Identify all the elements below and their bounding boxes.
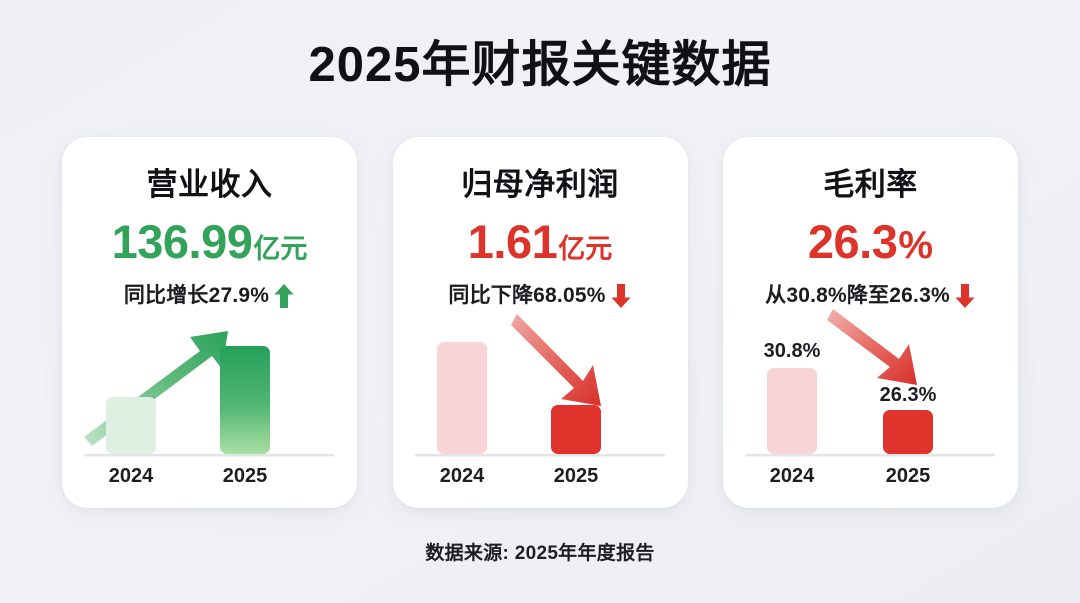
- bar-2025: [220, 346, 270, 454]
- arrow-up-icon: [273, 283, 295, 309]
- arrow-down-icon: [954, 283, 976, 309]
- value-number: 136.99: [112, 215, 253, 269]
- chart-baseline: [84, 454, 334, 457]
- card-value: 1.61 亿元: [468, 215, 612, 269]
- x-label-2024: 2024: [109, 465, 154, 487]
- card-value: 136.99 亿元: [112, 215, 308, 269]
- metric-card-revenue[interactable]: 营业收入 136.99 亿元 同比增长27.9%: [62, 137, 357, 508]
- card-change: 从30.8%降至26.3%: [765, 282, 976, 310]
- chart-baseline: [415, 454, 665, 457]
- card-chart-gross-margin: 30.8% 26.3% 2024 2025: [723, 309, 1018, 494]
- page-title: 2025年财报关键数据: [0, 34, 1080, 96]
- x-label-2025: 2025: [886, 465, 931, 487]
- bar-2024: [437, 342, 487, 454]
- trend-arrow-down-icon: [827, 309, 917, 385]
- card-title: 毛利率: [823, 165, 918, 205]
- card-title: 归母净利润: [461, 165, 619, 205]
- change-label: 同比增长27.9%: [124, 282, 269, 310]
- change-label: 从30.8%降至26.3%: [765, 282, 950, 310]
- chart-baseline: [745, 454, 995, 457]
- value-unit: %: [898, 229, 933, 263]
- metric-cards-row: 营业收入 136.99 亿元 同比增长27.9%: [62, 137, 1018, 508]
- card-value: 26.3 %: [808, 215, 933, 269]
- bar-2024: [767, 368, 817, 454]
- metric-card-gross-margin[interactable]: 毛利率 26.3 % 从30.8%降至26.3%: [723, 137, 1018, 508]
- card-title: 营业收入: [147, 165, 273, 205]
- bar-2025: [883, 410, 933, 454]
- value-unit: 亿元: [558, 232, 612, 266]
- card-change: 同比增长27.9%: [124, 282, 295, 310]
- bar-value-label-2025: 26.3%: [880, 384, 937, 406]
- data-source-note: 数据来源: 2025年年度报告: [0, 541, 1080, 567]
- bar-value-label-2024: 30.8%: [764, 340, 821, 362]
- trend-arrow-down-icon: [511, 314, 601, 406]
- value-unit: 亿元: [253, 232, 307, 266]
- x-label-2024: 2024: [439, 465, 484, 487]
- metric-card-net-profit[interactable]: 归母净利润 1.61 亿元 同比下降68.05%: [393, 137, 688, 508]
- card-chart-revenue: 2024 2025: [62, 309, 357, 494]
- value-number: 26.3: [808, 215, 897, 269]
- x-label-2024: 2024: [770, 465, 815, 487]
- change-label: 同比下降68.05%: [448, 282, 605, 310]
- card-change: 同比下降68.05%: [448, 282, 631, 310]
- x-label-2025: 2025: [553, 465, 598, 487]
- x-label-2025: 2025: [223, 465, 268, 487]
- bar-2025: [551, 405, 601, 454]
- bar-2024: [106, 397, 156, 454]
- infographic-page: 2025年财报关键数据 营业收入 136.99 亿元 同比增长27.9%: [0, 0, 1080, 603]
- arrow-down-icon: [610, 283, 632, 309]
- card-chart-net-profit: 2024 2025: [393, 309, 688, 494]
- value-number: 1.61: [468, 215, 557, 269]
